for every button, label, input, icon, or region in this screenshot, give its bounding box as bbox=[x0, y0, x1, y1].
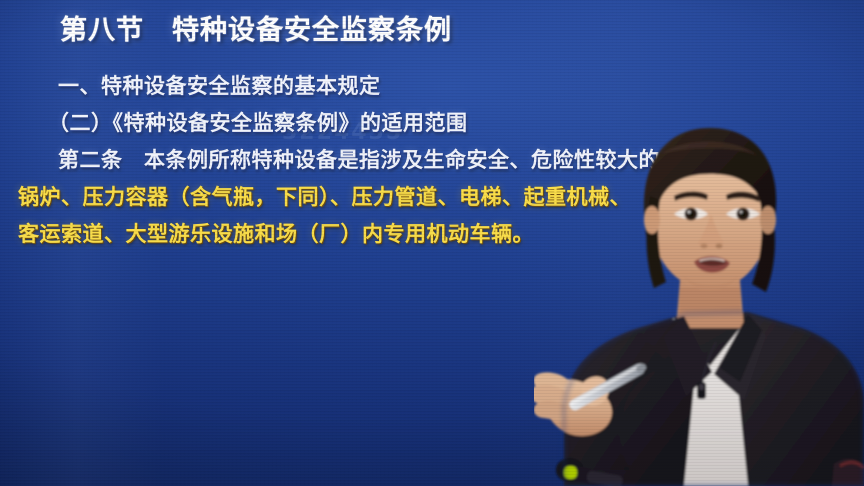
slide-line-subsection-heading: （二）《特种设备安全监察条例》的适用范围 bbox=[48, 107, 468, 137]
slide-title: 第八节 特种设备安全监察条例 bbox=[60, 8, 452, 47]
slide-line-equipment-list-2: 客运索道、大型游乐设施和场（厂）内专用机动车辆。 bbox=[18, 218, 534, 248]
presenter-figure bbox=[534, 66, 864, 486]
slide-line-section-heading: 一、特种设备安全监察的基本规定 bbox=[58, 70, 381, 100]
video-slide-frame: 3224435 第八节 特种设备安全监察条例 一、特种设备安全监察的基本规定 （… bbox=[0, 0, 864, 486]
